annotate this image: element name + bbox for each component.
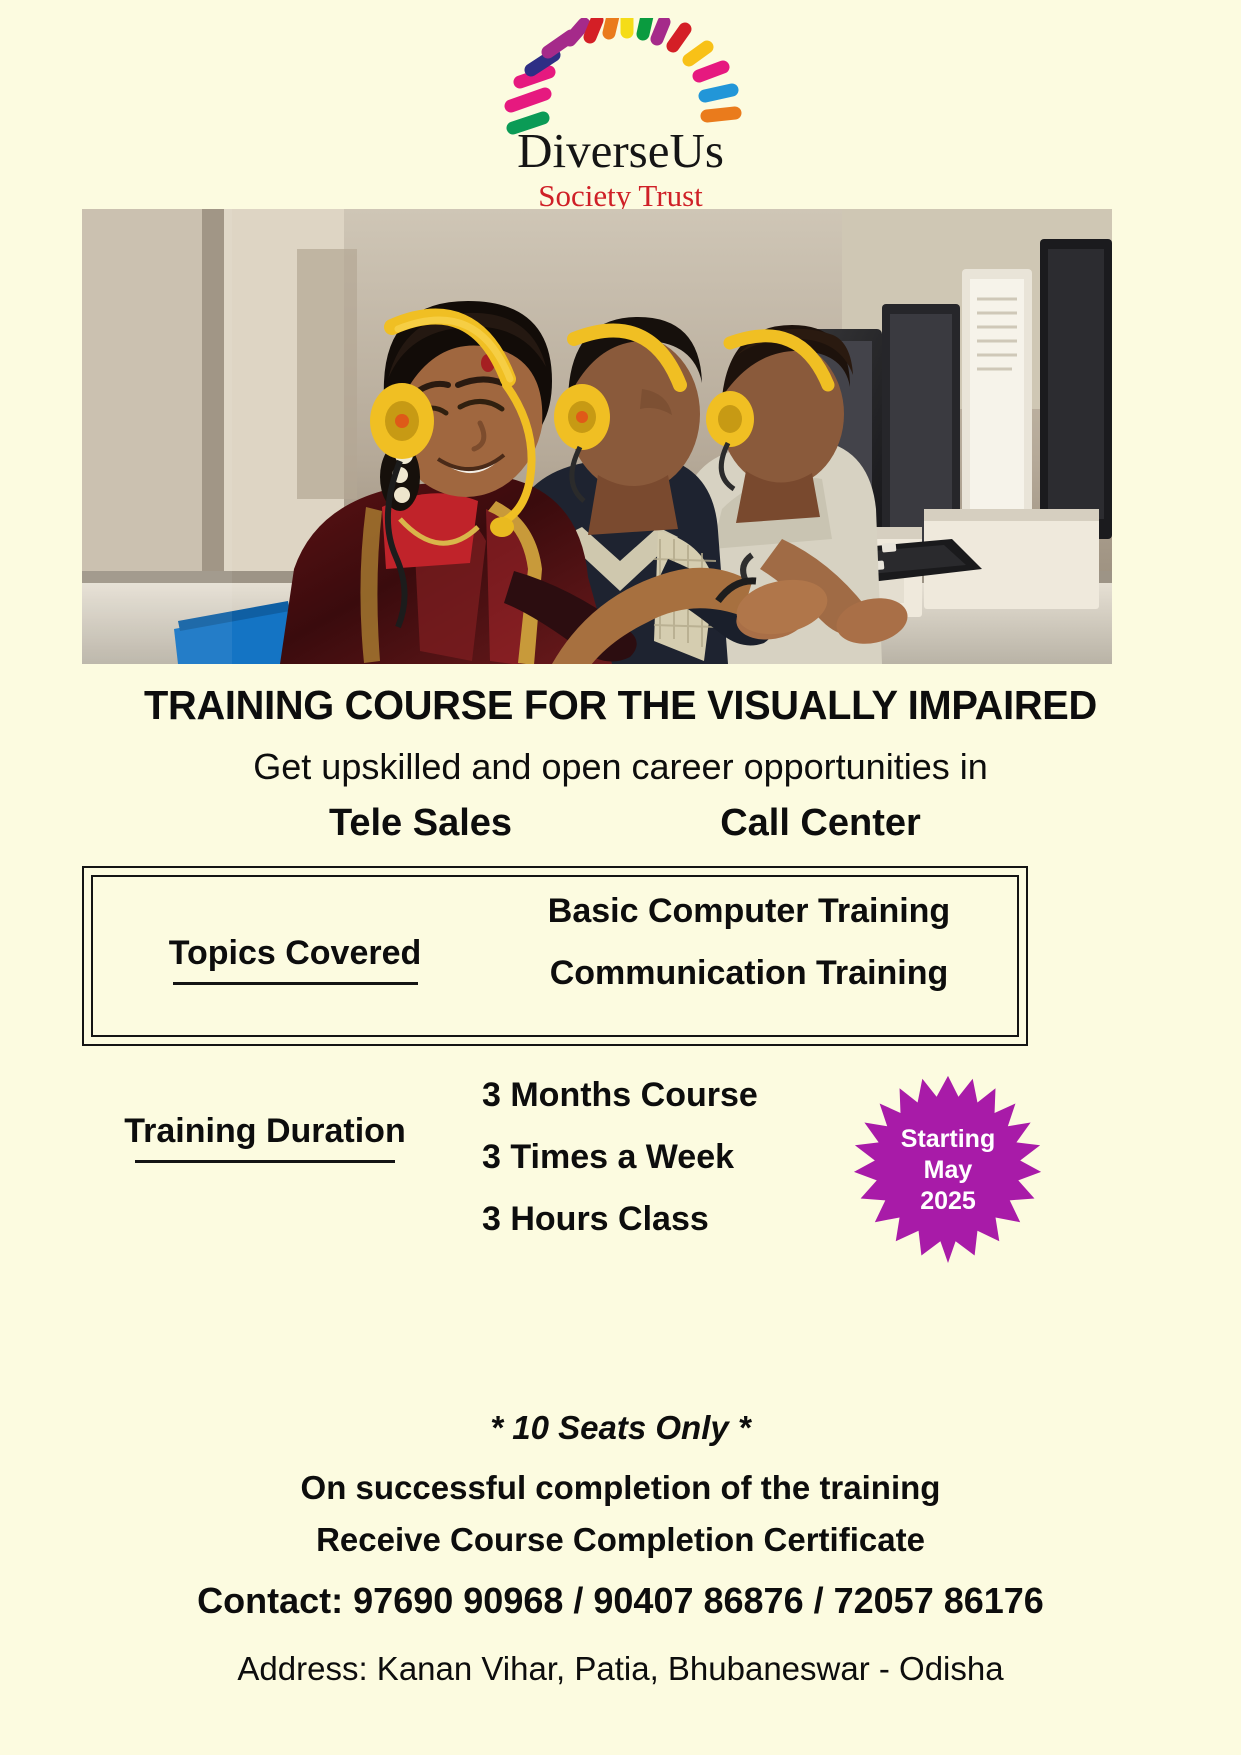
page-subtitle: Get upskilled and open career opportunit… — [0, 746, 1241, 788]
rainbow-arc-icon — [491, 18, 751, 138]
starting-date-badge-text: Starting May 2025 — [853, 1073, 1043, 1265]
logo-wordmark: DiverseUs — [517, 126, 724, 175]
topic-item-1: Basic Computer Training — [484, 894, 1014, 928]
contact-numbers[interactable]: Contact: 97690 90968 / 90407 86876 / 720… — [0, 1580, 1241, 1622]
roles-row: Tele Sales Call Center — [0, 802, 1241, 845]
role-tele-sales: Tele Sales — [221, 802, 621, 845]
training-duration-underline — [135, 1160, 395, 1163]
training-photo-illustration — [82, 209, 1112, 664]
duration-item-2: 3 Times a Week — [430, 1140, 850, 1174]
certificate-line-1: On successful completion of the training — [0, 1469, 1241, 1507]
topics-covered-underline — [173, 982, 418, 985]
duration-item-1: 3 Months Course — [430, 1078, 850, 1112]
address-line: Address: Kanan Vihar, Patia, Bhubaneswar… — [0, 1650, 1241, 1688]
page-title: TRAINING COURSE FOR THE VISUALLY IMPAIRE… — [19, 682, 1223, 729]
organization-logo: DiverseUs Society Trust — [0, 18, 1241, 208]
topics-covered-box: Topics Covered Basic Computer Training C… — [82, 866, 1028, 1046]
training-duration-label-text: Training Duration — [124, 1112, 405, 1150]
badge-line-2: May — [924, 1155, 973, 1186]
seats-notice: * 10 Seats Only * — [0, 1409, 1241, 1447]
topics-covered-label: Topics Covered — [130, 934, 460, 985]
training-duration-list: 3 Months Course 3 Times a Week 3 Hours C… — [430, 1078, 850, 1264]
logo-tagline: Society Trust — [538, 180, 703, 211]
topics-covered-label-text: Topics Covered — [169, 934, 422, 972]
starting-date-badge: Starting May 2025 — [853, 1073, 1043, 1265]
badge-line-1: Starting — [901, 1124, 995, 1155]
topic-item-2: Communication Training — [484, 956, 1014, 990]
poster-root: DiverseUs Society Trust — [0, 0, 1241, 1755]
certificate-line-2: Receive Course Completion Certificate — [0, 1521, 1241, 1559]
role-call-center: Call Center — [621, 802, 1021, 845]
badge-line-3: 2025 — [920, 1186, 976, 1217]
training-duration-label: Training Duration — [100, 1112, 430, 1163]
topics-covered-list: Basic Computer Training Communication Tr… — [484, 894, 1014, 1018]
duration-item-3: 3 Hours Class — [430, 1202, 850, 1236]
training-photo — [82, 209, 1112, 664]
